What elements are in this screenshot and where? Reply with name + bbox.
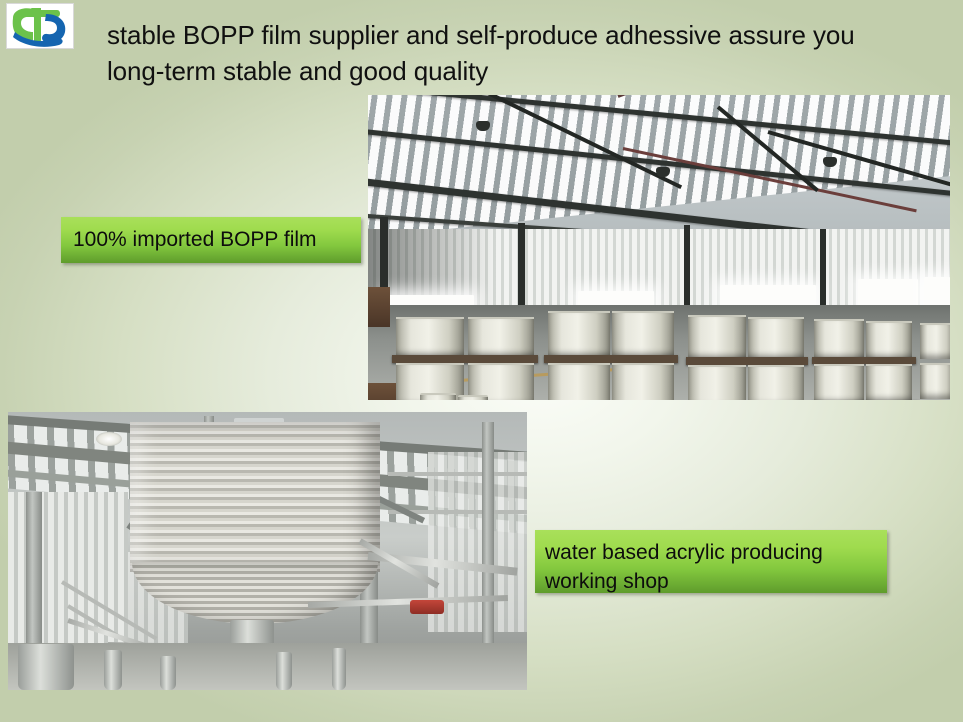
film-roll-stack [688, 365, 746, 400]
company-logo-mark [7, 4, 73, 48]
photo-reactor-workshop [8, 412, 527, 690]
film-roll-stack [748, 365, 804, 400]
valve-manifold [104, 650, 122, 690]
cardboard-box [368, 383, 396, 400]
film-roll-stack [548, 363, 610, 400]
film-roll-stack [748, 317, 804, 359]
film-roll-stack [866, 321, 912, 359]
workshop-column [482, 422, 494, 662]
slide-canvas: stable BOPP film supplier and self-produ… [0, 0, 963, 722]
company-logo [6, 3, 74, 49]
red-equipment-housing [410, 600, 444, 614]
valve-manifold [276, 652, 292, 690]
film-roll-single [458, 395, 488, 400]
slide-title: stable BOPP film supplier and self-produ… [107, 17, 907, 89]
pallet [392, 355, 538, 363]
valve-manifold [160, 656, 176, 690]
pallet [812, 357, 916, 364]
workshop-floor [8, 643, 527, 690]
film-roll-stack [814, 319, 864, 359]
callout-acrylic-workshop: water based acrylic producing working sh… [535, 530, 887, 593]
cardboard-box [368, 287, 390, 327]
reactor-vessel-body [130, 422, 380, 572]
ceiling-lamp [96, 432, 122, 446]
film-roll-stack [612, 363, 674, 400]
film-roll-stack [814, 364, 864, 400]
photo-warehouse [368, 95, 950, 400]
film-roll-stack [866, 364, 912, 400]
film-roll-stack [396, 317, 464, 357]
foreground-vessel [18, 644, 74, 690]
film-roll-stack [920, 323, 950, 359]
valve-manifold [332, 648, 346, 690]
pallet [544, 355, 678, 363]
film-roll-stack [468, 317, 534, 357]
film-roll-single [420, 393, 456, 400]
ceiling-lamp [656, 167, 670, 177]
pallet [686, 357, 808, 365]
callout-bopp-film: 100% imported BOPP film [61, 217, 361, 263]
film-roll-stack [548, 311, 610, 357]
film-roll-stack [920, 363, 950, 399]
ceiling-lamp [476, 121, 490, 131]
ceiling-lamp [823, 157, 837, 167]
mezzanine-rail [388, 472, 527, 476]
film-roll-stack [688, 315, 746, 359]
workshop-column [26, 492, 42, 662]
film-roll-stack [612, 311, 674, 357]
